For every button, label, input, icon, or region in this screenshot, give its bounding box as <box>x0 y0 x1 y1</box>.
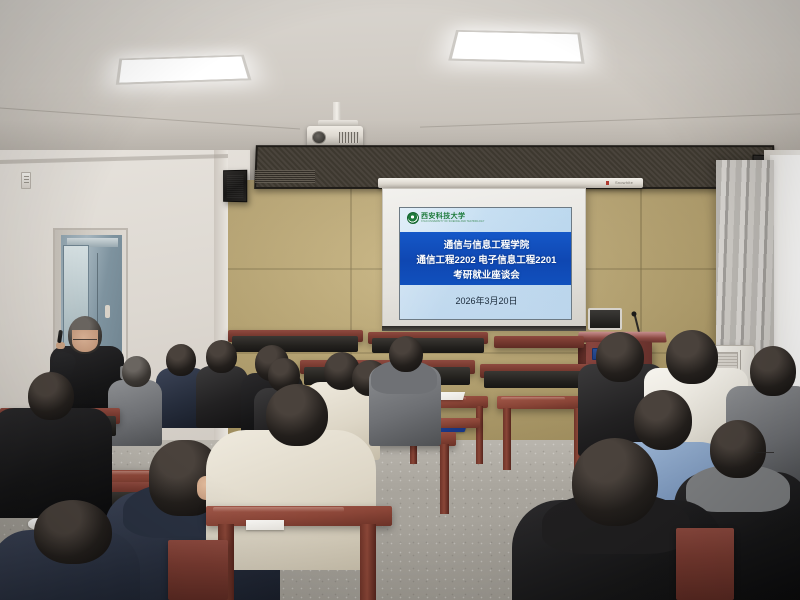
bench-armrest <box>676 528 734 600</box>
glasses-icon <box>73 337 97 340</box>
audience-head <box>634 390 692 450</box>
slide-title-line-1: 通信与信息工程学院 <box>444 237 530 251</box>
slide-title-line-3: 考研就业座谈会 <box>453 267 520 281</box>
audience-head <box>572 438 658 526</box>
desk-reflection <box>501 397 565 400</box>
audience-head <box>710 420 766 478</box>
slide-title-line-2: 通信工程2202 电子信息工程2201 <box>417 252 557 266</box>
projection-screen-housing[interactable]: Snowhite <box>378 178 643 188</box>
audience-head <box>166 344 196 376</box>
wall-speaker-left <box>223 170 247 203</box>
presenter-hand <box>56 342 65 349</box>
paper-stack[interactable] <box>246 520 284 530</box>
door-handle[interactable] <box>105 305 110 318</box>
ceiling-led-panel-right <box>448 30 585 64</box>
university-name-cn: 西安科技大学 <box>421 213 484 220</box>
audience-head <box>28 372 74 420</box>
desk-leg <box>476 406 483 464</box>
audience-head <box>666 330 718 384</box>
projector-lens-icon <box>312 131 326 144</box>
bench-armrest <box>168 540 228 600</box>
presenter-face <box>72 330 98 352</box>
audience-body <box>0 408 112 518</box>
projection-screen-weight-bar <box>382 326 586 331</box>
slide-university-logo: 西安科技大学 XI'AN UNIVERSITY OF SCIENCE AND T… <box>407 212 484 224</box>
projected-slide: 西安科技大学 XI'AN UNIVERSITY OF SCIENCE AND T… <box>399 207 572 320</box>
desk-reflection <box>213 507 343 512</box>
desk-leg <box>360 524 376 600</box>
glasses-icon <box>754 450 774 453</box>
audience-head <box>122 356 151 387</box>
lecture-hall-photo: Snowhite 西安科技大学 XI'AN UNIVERSITY OF SCIE… <box>0 0 800 600</box>
audience-head <box>206 340 237 373</box>
audience-head <box>389 336 423 372</box>
wall-sensor[interactable] <box>21 172 31 189</box>
housing-indicator-icon <box>606 181 609 185</box>
audience-head <box>596 332 644 382</box>
slide-title-banner: 通信与信息工程学院 通信工程2202 电子信息工程2201 考研就业座谈会 <box>400 232 572 285</box>
desk-leg <box>440 444 449 514</box>
seat-cushion <box>232 336 358 352</box>
desk <box>206 506 392 526</box>
university-name-en: XI'AN UNIVERSITY OF SCIENCE AND TECHNOLO… <box>421 220 484 223</box>
ceiling-led-panel-left <box>116 55 252 85</box>
bench-backrest <box>494 336 584 348</box>
university-emblem-icon <box>407 212 419 224</box>
desk-leg <box>503 408 511 470</box>
audience-head <box>34 500 112 564</box>
audience-head <box>750 346 796 396</box>
acoustic-panel-vent <box>255 170 315 183</box>
projector-vent <box>339 132 359 143</box>
slide-date: 2026年3月20日 <box>400 294 572 307</box>
audience-head <box>266 384 328 446</box>
podium-monitor[interactable] <box>588 308 622 330</box>
housing-brand-label: Snowhite <box>615 180 633 185</box>
